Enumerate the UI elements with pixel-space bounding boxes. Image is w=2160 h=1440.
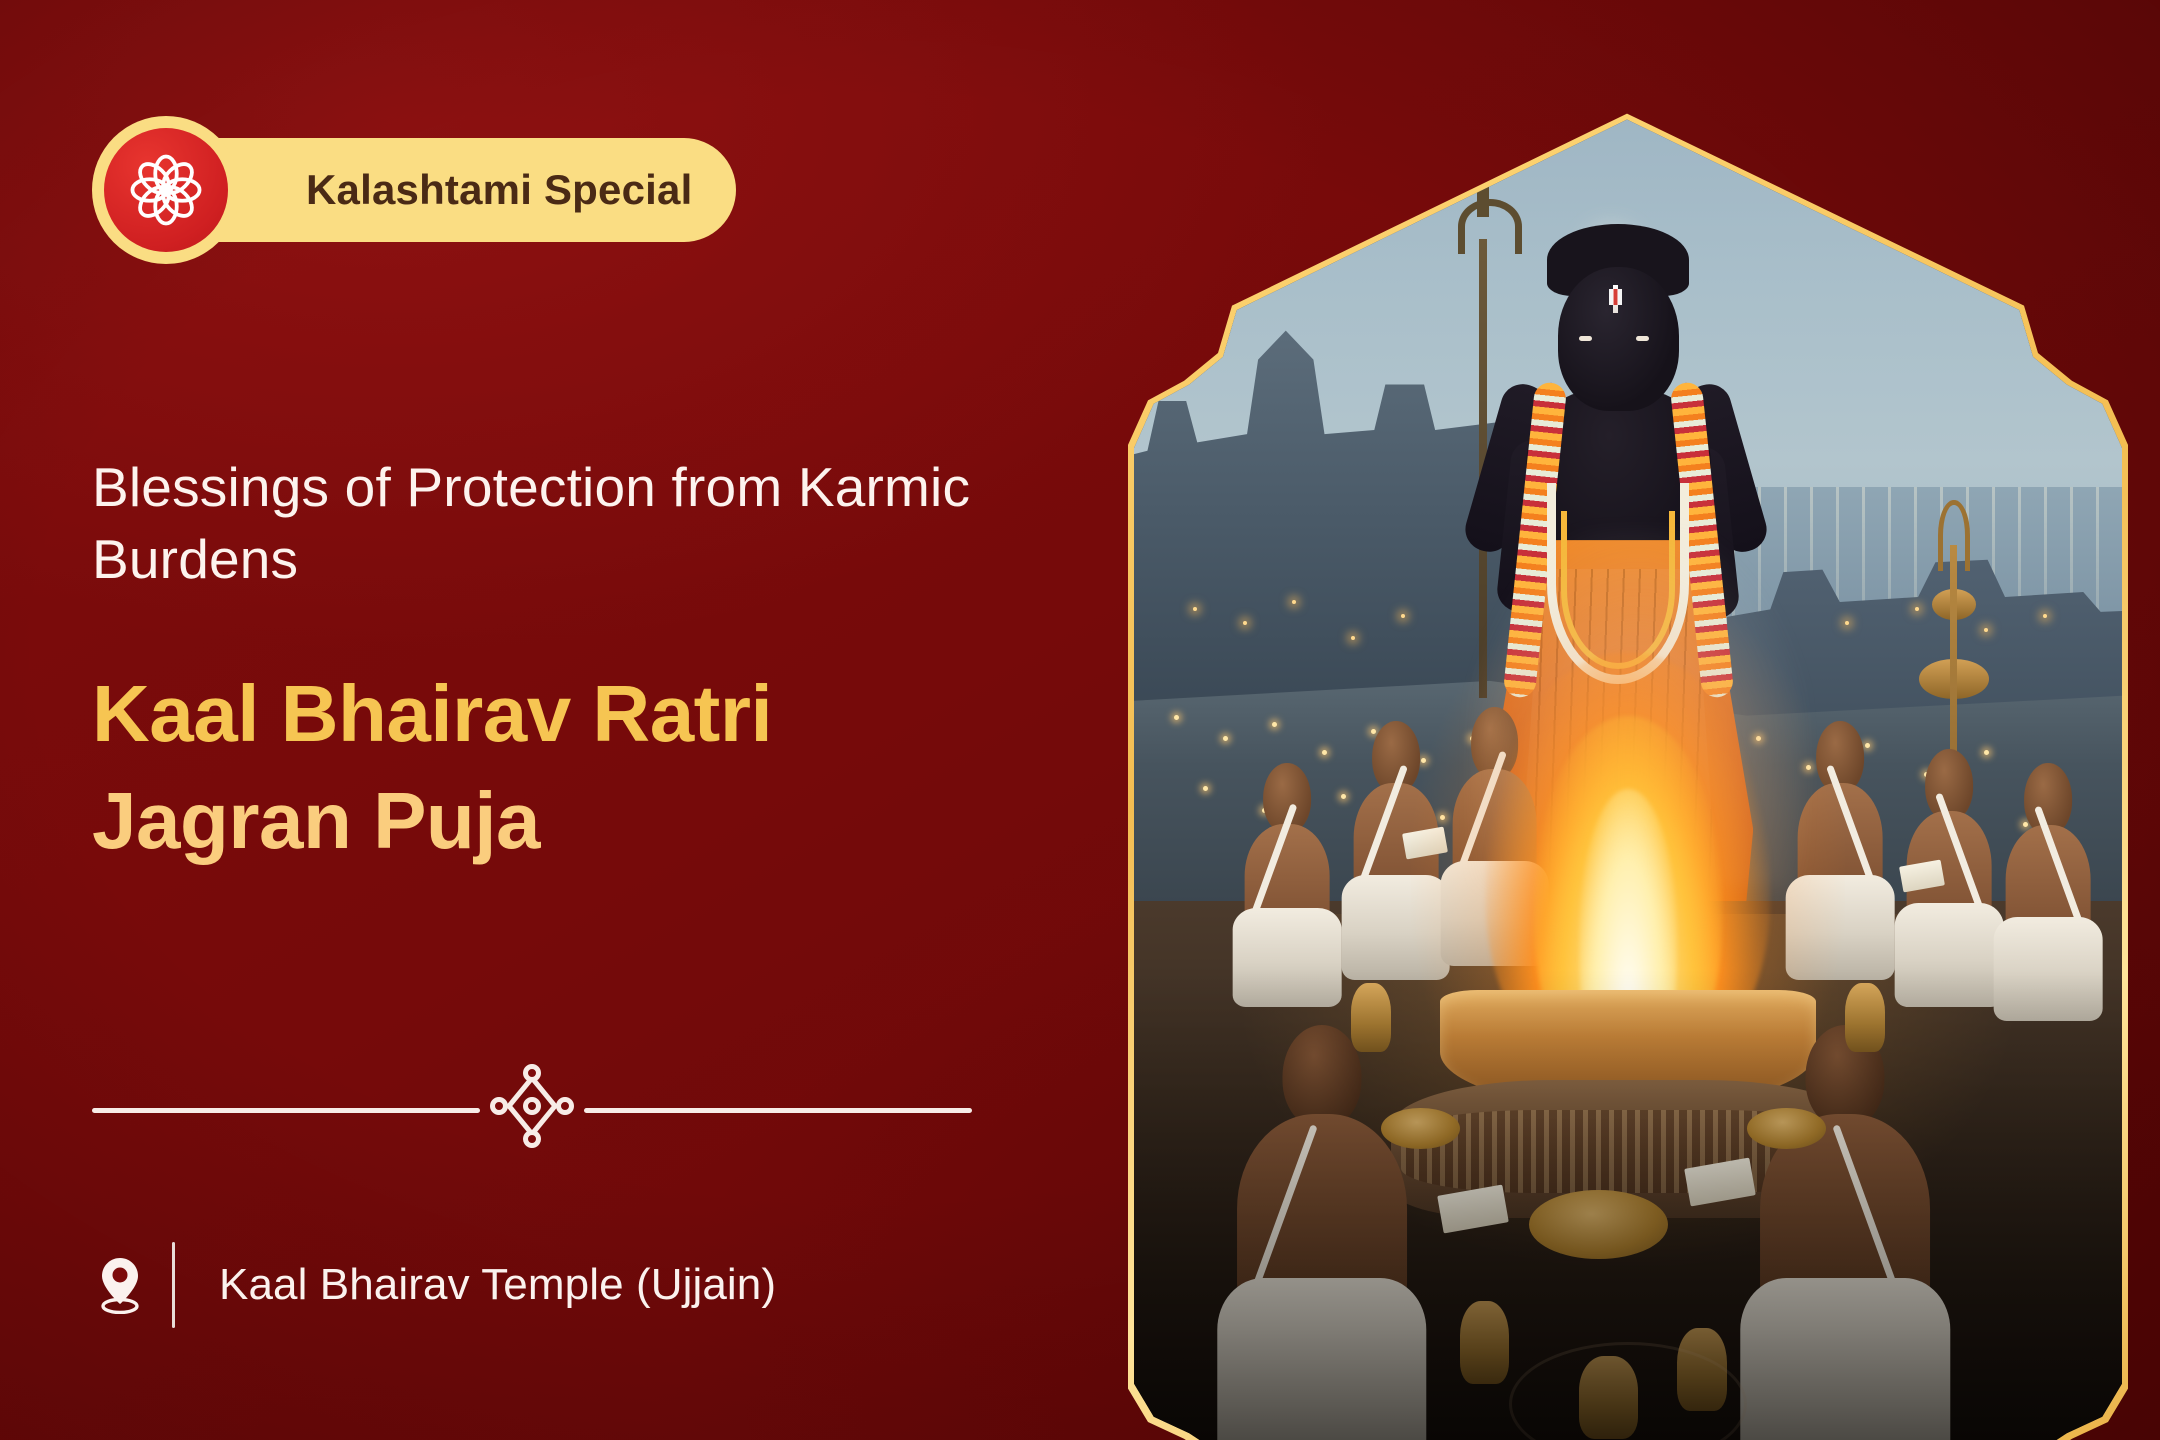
headline-line-1: Kaal Bhairav Ratri xyxy=(92,660,1092,767)
panel-image xyxy=(1134,114,2122,1440)
brand-logo-disc xyxy=(104,128,228,252)
subtitle: Blessings of Protection from Karmic Burd… xyxy=(92,452,1052,595)
headline-line-2: Jagran Puja xyxy=(92,767,1092,874)
puja-image-panel xyxy=(1128,108,2128,1440)
brand-logo xyxy=(92,116,240,264)
venue-row[interactable]: Kaal Bhairav Temple (Ujjain) xyxy=(92,1235,776,1335)
diamond-ornament-icon xyxy=(489,1062,575,1158)
location-pin-icon xyxy=(92,1256,148,1314)
puja-scene xyxy=(1134,114,2122,1440)
divider-rule-right xyxy=(584,1108,972,1113)
left-content-column: Kalashtami Special xyxy=(0,0,1120,1440)
panel-shadow-overlay xyxy=(1134,114,2122,1440)
venue-label: Kaal Bhairav Temple (Ujjain) xyxy=(219,1260,776,1310)
badge-pill: Kalashtami Special xyxy=(166,138,736,242)
lotus-rosette-icon xyxy=(123,147,209,233)
page-title: Kaal Bhairav Ratri Jagran Puja xyxy=(92,660,1092,874)
decorative-divider xyxy=(92,1062,972,1158)
divider-rule-left xyxy=(92,1108,480,1113)
badge-label: Kalashtami Special xyxy=(306,166,692,214)
venue-separator xyxy=(172,1242,175,1328)
divider-ornament xyxy=(480,1062,584,1158)
